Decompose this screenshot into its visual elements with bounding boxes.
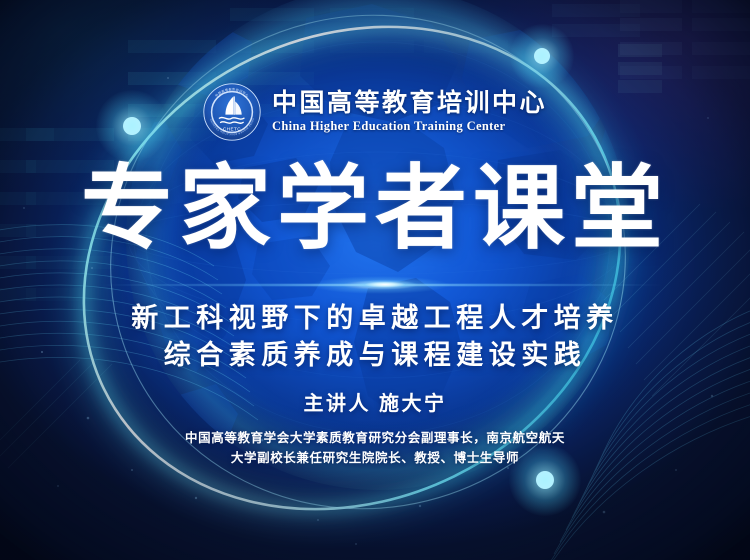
poster-content: 中国高等教育培训中心 CHINA HIGHER EDUCATION TRAINI…: [0, 0, 750, 560]
subtitle-line-1: 新工科视野下的卓越工程人才培养: [0, 300, 750, 337]
poster-subtitle: 新工科视野下的卓越工程人才培养 综合素质养成与课程建设实践: [0, 300, 750, 375]
speaker-line: 主讲人 施大宁: [0, 387, 750, 416]
bio-line-1: 中国高等教育学会大学素质教育研究分会副理事长，南京航空航天: [0, 428, 750, 448]
brand-text-block: 中国高等教育培训中心 China Higher Education Traini…: [272, 90, 547, 133]
promo-poster: 中国高等教育培训中心 CHINA HIGHER EDUCATION TRAINI…: [0, 0, 750, 560]
poster-main-title: 专家学者课堂: [0, 163, 750, 255]
chetc-emblem-icon: 中国高等教育培训中心 CHINA HIGHER EDUCATION TRAINI…: [203, 83, 261, 141]
brand-header: 中国高等教育培训中心 CHINA HIGHER EDUCATION TRAINI…: [0, 83, 750, 141]
org-name-en: China Higher Education Training Center: [272, 119, 547, 133]
bio-line-2: 大学副校长兼任研究生院院长、教授、博士生导师: [0, 448, 750, 468]
speaker-bio: 中国高等教育学会大学素质教育研究分会副理事长，南京航空航天 大学副校长兼任研究生…: [0, 428, 750, 469]
org-name-cn: 中国高等教育培训中心: [272, 90, 547, 118]
subtitle-line-2: 综合素质养成与课程建设实践: [0, 337, 750, 374]
emblem-acronym: CHETC: [223, 127, 241, 132]
